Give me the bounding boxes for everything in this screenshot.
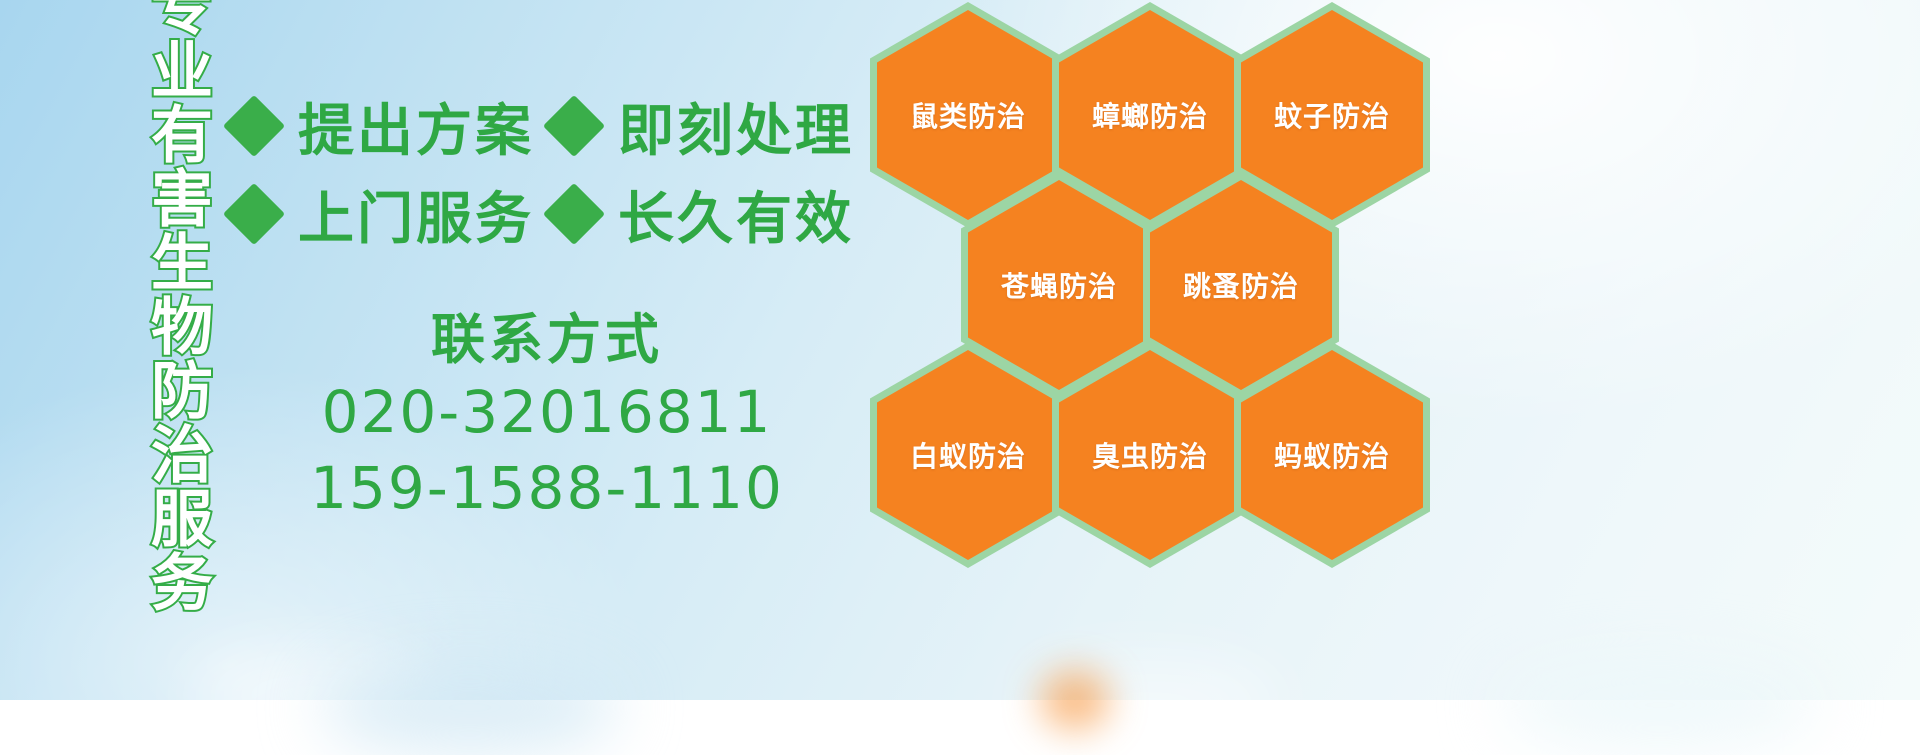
service-label: 鼠类防治 [910, 95, 1026, 135]
diamond-icon [543, 183, 605, 245]
feature-item-propose-plan: 提出方案 [232, 86, 552, 167]
diamond-icon [223, 95, 285, 157]
service-label: 跳蚤防治 [1183, 265, 1299, 305]
feature-row: 提出方案 即刻处理 [232, 82, 862, 170]
service-label: 苍蝇防治 [1001, 265, 1117, 305]
feature-item-immediate-handling: 即刻处理 [552, 86, 854, 167]
service-label: 臭虫防治 [1092, 435, 1208, 475]
background-blob [190, 650, 430, 740]
background-blob [1500, 660, 1820, 750]
feature-row: 上门服务 长久有效 [232, 170, 862, 258]
contact-block: 联系方式 020-32016811 159-1588-1110 [232, 306, 862, 527]
pest-control-banner: 专业有害生物防治服务 提出方案 即刻处理 上门服务 长久有效 联 [0, 0, 1920, 700]
background-blob [1020, 660, 1280, 748]
phone-number-landline[interactable]: 020-32016811 [232, 374, 862, 451]
background-blob-orange [1040, 670, 1110, 730]
feature-item-onsite-service: 上门服务 [232, 174, 552, 255]
phone-number-mobile[interactable]: 159-1588-1110 [232, 450, 862, 527]
feature-item-long-lasting: 长久有效 [552, 174, 854, 255]
feature-list: 提出方案 即刻处理 上门服务 长久有效 [232, 82, 862, 258]
service-label: 蚂蚁防治 [1274, 435, 1390, 475]
feature-label: 即刻处理 [618, 86, 854, 167]
feature-label: 提出方案 [298, 86, 534, 167]
feature-label: 上门服务 [298, 174, 534, 255]
vertical-company-title: 专业有害生物防治服务 [112, 14, 208, 574]
feature-label: 长久有效 [618, 174, 854, 255]
service-label: 白蚁防治 [910, 435, 1026, 475]
services-honeycomb: 鼠类防治 蟑螂防治 蚊子防治 苍蝇防治 跳蚤防治 白蚁防治 臭虫防治 [862, 0, 1462, 574]
diamond-icon [543, 95, 605, 157]
background-blob [320, 660, 620, 755]
diamond-icon [223, 183, 285, 245]
contact-title: 联系方式 [232, 306, 862, 374]
service-label: 蟑螂防治 [1092, 95, 1208, 135]
service-label: 蚊子防治 [1274, 95, 1390, 135]
